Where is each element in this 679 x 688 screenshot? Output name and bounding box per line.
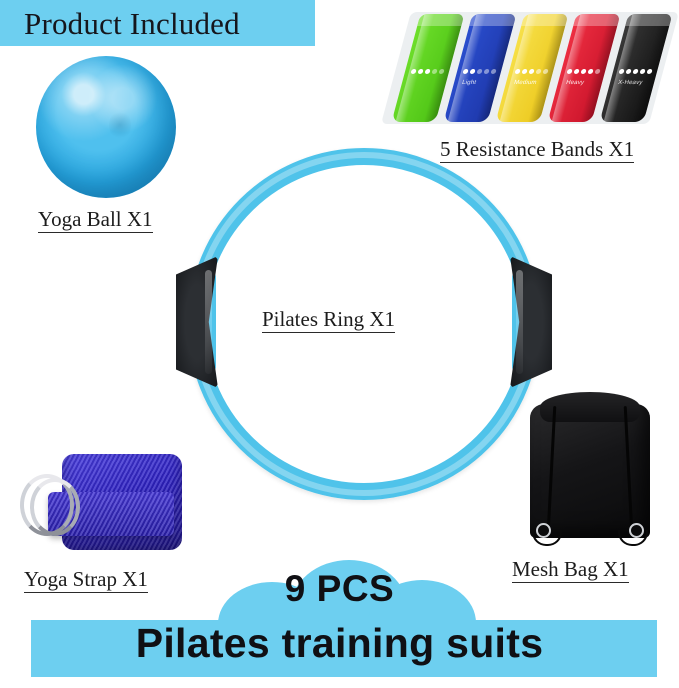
mesh-bag-image	[530, 388, 650, 546]
grip-left-highlight	[205, 270, 212, 374]
band-black-label: X-Heavy	[617, 80, 643, 86]
mesh-bag-loop-left	[532, 530, 562, 546]
band-black-dots	[618, 68, 654, 75]
yoga-ball-sphere	[36, 56, 176, 198]
footer-piece-count: 9 PCS	[0, 570, 679, 607]
pilates-ring-grip-right	[510, 256, 552, 388]
band-green-dots	[410, 68, 446, 75]
grip-right-highlight	[516, 270, 523, 374]
caption-yoga-ball-text: Yoga Ball X1	[38, 208, 153, 233]
band-yellow-dots	[514, 68, 550, 75]
yoga-ball-shading	[109, 110, 131, 140]
resistance-bands-image: Light Medium Heavy X-Heavy	[392, 4, 679, 132]
page-title: Product Included	[0, 8, 240, 39]
yoga-ball-image	[36, 56, 176, 198]
d-ring-inner	[30, 478, 80, 536]
header-banner: Product Included	[0, 0, 315, 46]
band-yellow-label: Medium	[513, 80, 537, 86]
pilates-ring-grip-left	[176, 256, 218, 388]
infographic-canvas: Product Included Yoga Ball X1 Light	[0, 0, 679, 688]
band-red-label: Heavy	[565, 80, 585, 86]
caption-pilates-ring: Pilates Ring X1	[262, 308, 395, 333]
footer-title: Pilates training suits	[0, 618, 679, 669]
mesh-bag-loop-right	[618, 530, 648, 546]
band-red-dots	[566, 68, 602, 75]
yoga-strap-image	[18, 452, 186, 560]
band-blue-label: Light	[461, 80, 477, 86]
band-blue-dots	[462, 68, 498, 75]
caption-yoga-ball: Yoga Ball X1	[38, 208, 153, 233]
caption-pilates-ring-text: Pilates Ring X1	[262, 308, 395, 333]
